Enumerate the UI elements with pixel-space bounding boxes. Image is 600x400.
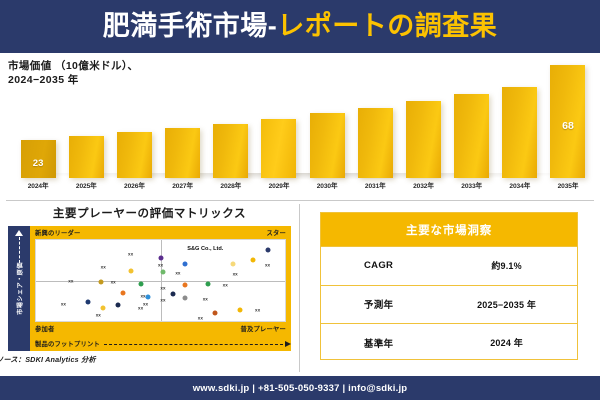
bar-slot: [110, 53, 158, 178]
matrix-point-label: xx: [265, 263, 270, 268]
matrix-point: [230, 262, 235, 267]
bar-slot: [448, 53, 496, 178]
bar-2026年: [117, 132, 152, 178]
insight-value: 2025−2035 年: [436, 298, 577, 311]
matrix-point-label: xx: [68, 278, 73, 283]
bar-value-label: 23: [21, 158, 56, 169]
x-tick-2028年: 2028年: [207, 180, 255, 196]
matrix-point-label: xx: [143, 301, 148, 306]
bar-2024年: 23: [21, 140, 56, 178]
matrix-point-label: xx: [175, 271, 180, 276]
dashed-line-horizontal: [104, 344, 283, 345]
x-tick-2031年: 2031年: [351, 180, 399, 196]
x-tick-2035年: 2035年: [544, 180, 592, 196]
lower-section: 主要プレーヤーの評価マトリックス 市場シェア・原価 新興のリーダー スター xx…: [0, 200, 600, 376]
key-insights-panel: 主要な市場洞察 CAGR約9.1%予測年2025−2035 年基準年2024 年: [299, 200, 600, 376]
matrix-top-labels: 新興のリーダー スター: [30, 226, 291, 239]
matrix-point: [128, 268, 133, 273]
matrix-point: [158, 255, 163, 260]
bar-slot: [207, 53, 255, 178]
matrix-point: [213, 310, 218, 315]
header-banner: 肥満手術市場-レポートの調査果: [0, 0, 600, 53]
matrix-frame: 市場シェア・原価 新興のリーダー スター xxxxxxxxS&G Co., Lt…: [8, 226, 291, 351]
bar-slot: [496, 53, 544, 178]
matrix-point: [183, 262, 188, 267]
matrix-point-label: xx: [138, 306, 143, 311]
bar-slot: [303, 53, 351, 178]
matrix-point-label: xx: [96, 312, 101, 317]
x-tick-2027年: 2027年: [159, 180, 207, 196]
market-value-chart: 市場価値 （10億米ドル）、 2024−2035 年 2368 2024年202…: [0, 53, 600, 200]
bar-2033年: [454, 94, 489, 178]
matrix-point-label: xx: [101, 264, 106, 269]
matrix-point: [138, 281, 143, 286]
insight-row: 基準年2024 年: [321, 323, 577, 362]
matrix-x-axis: 製品のフットプリント: [30, 335, 291, 351]
matrix-point: [265, 247, 270, 252]
matrix-point: [121, 291, 126, 296]
matrix-point-label: xx: [111, 280, 116, 285]
bar-slot: [255, 53, 303, 178]
page-title-primary: 肥満手術市場-: [103, 11, 278, 41]
matrix-point: [98, 280, 103, 285]
matrix-point: [86, 299, 91, 304]
quadrant-label-participants: 参加者: [35, 324, 55, 333]
matrix-point-label: xx: [61, 301, 66, 306]
matrix-point: [250, 258, 255, 263]
x-tick-2034年: 2034年: [496, 180, 544, 196]
footer-banner: www.sdki.jp | +81-505-050-9337 | info@sd…: [0, 376, 600, 400]
key-insights-table: 主要な市場洞察 CAGR約9.1%予測年2025−2035 年基準年2024 年: [320, 212, 578, 360]
bar-2029年: [261, 119, 296, 178]
bar-slot: 68: [544, 53, 592, 178]
matrix-point-label: xx: [128, 251, 133, 256]
matrix-point-label: xx: [233, 272, 238, 277]
bar-series: 2368: [14, 53, 592, 178]
insight-row: 予測年2025−2035 年: [321, 285, 577, 324]
x-tick-2032年: 2032年: [399, 180, 447, 196]
key-insights-rows: CAGR約9.1%予測年2025−2035 年基準年2024 年: [321, 246, 577, 362]
insight-value: 2024 年: [436, 336, 577, 349]
arrow-right-icon: [285, 341, 291, 347]
matrix-title: 主要プレーヤーの評価マトリックス: [0, 205, 299, 221]
matrix-point-label: xx: [160, 297, 165, 302]
bar-value-label: 68: [550, 120, 585, 132]
matrix-y-axis-label: 市場シェア・原価: [15, 262, 24, 315]
insight-value: 約9.1%: [436, 259, 577, 272]
bar-slot: [62, 53, 110, 178]
chart-x-axis: 2024年2025年2026年2027年2028年2029年2030年2031年…: [14, 180, 592, 196]
x-tick-2029年: 2029年: [255, 180, 303, 196]
matrix-point: [238, 307, 243, 312]
matrix-point-label: xx: [158, 263, 163, 268]
matrix-point-label: xx: [160, 285, 165, 290]
page-title-accent: レポートの調査果: [277, 11, 497, 41]
matrix-point-label: xx: [198, 315, 203, 320]
insight-key: 基準年: [321, 336, 436, 350]
x-tick-2024年: 2024年: [14, 180, 62, 196]
infographic-root: 肥満手術市場-レポートの調査果 市場価値 （10億米ドル）、 2024−2035…: [0, 0, 600, 400]
key-insights-header: 主要な市場洞察: [321, 213, 577, 246]
bar-2032年: [406, 101, 441, 178]
page-title: 肥満手術市場-レポートの調査果: [103, 13, 498, 40]
player-matrix-panel: 主要プレーヤーの評価マトリックス 市場シェア・原価 新興のリーダー スター xx…: [0, 200, 299, 376]
dashed-line-vertical: [19, 237, 20, 263]
matrix-scatter-plot: xxxxxxxxS&G Co., Ltd.xxxxxxxxxxxxxxxxxxx…: [35, 239, 286, 322]
matrix-point-label: xx: [203, 297, 208, 302]
matrix-named-player-label: S&G Co., Ltd.: [187, 246, 223, 252]
matrix-point: [170, 292, 175, 297]
chart-plot-area: 2368 2024年2025年2026年2027年2028年2029年2030年…: [14, 53, 592, 200]
matrix-point-label: xx: [223, 283, 228, 288]
matrix-point: [160, 270, 165, 275]
bar-2034年: [502, 87, 537, 178]
source-note: ソース：SDKI Analytics 分析: [0, 355, 295, 365]
bar-2027年: [165, 128, 200, 178]
matrix-point: [101, 306, 106, 311]
matrix-point: [205, 281, 210, 286]
x-tick-2033年: 2033年: [448, 180, 496, 196]
quadrant-label-pervasive: 普及プレーヤー: [241, 324, 286, 333]
matrix-bottom-labels: 参加者 普及プレーヤー: [30, 322, 291, 335]
bar-slot: [159, 53, 207, 178]
matrix-x-axis-label: 製品のフットプリント: [35, 339, 100, 348]
matrix-point: [116, 302, 121, 307]
insight-key: 予測年: [321, 297, 436, 311]
bar-2028年: [213, 124, 248, 178]
x-tick-2026年: 2026年: [110, 180, 158, 196]
arrow-up-icon: [15, 230, 23, 236]
matrix-body: 新興のリーダー スター xxxxxxxxS&G Co., Ltd.xxxxxxx…: [30, 226, 291, 351]
bar-slot: 23: [14, 53, 62, 178]
bar-2030年: [310, 113, 345, 178]
matrix-point: [146, 294, 151, 299]
x-tick-2030年: 2030年: [303, 180, 351, 196]
quadrant-label-stars: スター: [267, 228, 287, 237]
matrix-y-axis: 市場シェア・原価: [8, 226, 30, 351]
bar-slot: [351, 53, 399, 178]
bar-2025年: [69, 136, 104, 178]
bar-2035年: 68: [550, 65, 585, 178]
insight-row: CAGR約9.1%: [321, 246, 577, 285]
matrix-point: [183, 283, 188, 288]
bar-slot: [399, 53, 447, 178]
insight-key: CAGR: [321, 260, 436, 271]
matrix-point-label: xx: [255, 308, 260, 313]
bar-2031年: [358, 108, 393, 178]
footer-contact-text: www.sdki.jp | +81-505-050-9337 | info@sd…: [193, 383, 408, 394]
x-tick-2025年: 2025年: [62, 180, 110, 196]
matrix-point: [183, 296, 188, 301]
key-insights-heading: 主要な市場洞察: [406, 222, 492, 238]
quadrant-label-emerging-leaders: 新興のリーダー: [35, 228, 80, 237]
